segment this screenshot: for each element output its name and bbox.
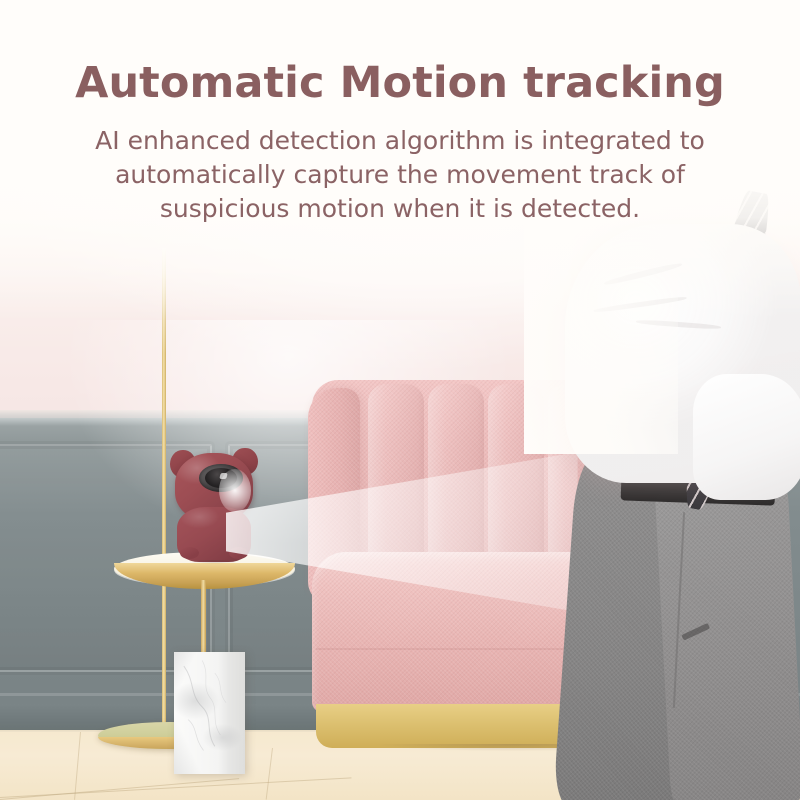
marble-block-base (174, 652, 244, 774)
camera-shadow (177, 560, 251, 570)
shirt-fold (603, 261, 682, 287)
marble-vein-pattern (174, 652, 244, 765)
page-subtitle: AI enhanced detection algorithm is integ… (55, 124, 745, 226)
subtitle-line-1: AI enhanced detection algorithm is integ… (55, 124, 745, 158)
sofa-channel (368, 384, 424, 568)
subtitle-line-2: automatically capture the movement track… (55, 158, 745, 192)
camera-paw-right (229, 547, 248, 559)
walking-person (560, 224, 800, 800)
shirt-sleeve (693, 374, 800, 501)
camera-body (177, 507, 251, 563)
floor-seam (0, 778, 239, 800)
bear-security-camera[interactable] (172, 446, 256, 562)
product-feature-banner: Automatic Motion tracking AI enhanced de… (0, 0, 800, 800)
shirt-fold (593, 295, 687, 313)
marketing-copy: Automatic Motion tracking AI enhanced de… (0, 0, 800, 226)
camera-paw-left (180, 547, 199, 559)
shirt-fold (636, 320, 721, 331)
lens-glint (220, 473, 229, 479)
camera-lens (205, 468, 237, 488)
camera-lens-ring (199, 464, 244, 492)
floor-lamp-pole (162, 248, 166, 732)
subtitle-line-3: suspicious motion when it is detected. (55, 192, 745, 226)
trouser-pocket (681, 623, 710, 641)
sofa-channel (428, 384, 484, 568)
page-title: Automatic Motion tracking (0, 0, 800, 108)
sofa-channel (488, 384, 544, 568)
